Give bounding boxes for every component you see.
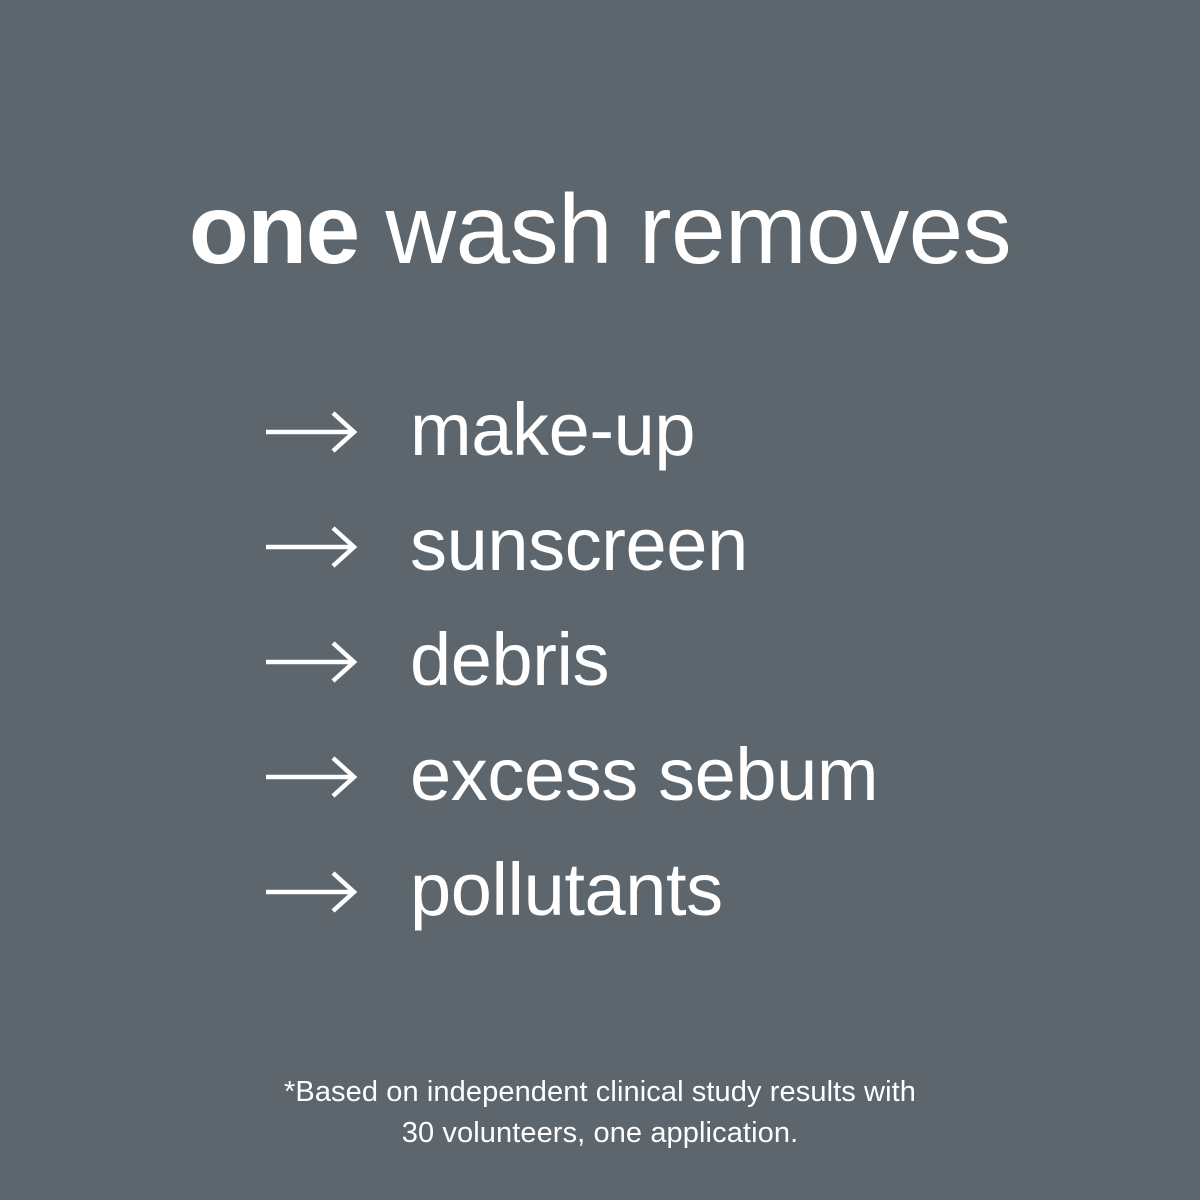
list-item: make-up <box>265 374 1065 489</box>
right-arrow-icon <box>265 525 361 569</box>
list-item: pollutants <box>265 834 1065 949</box>
list-item-label: debris <box>410 623 609 697</box>
list-item-label: make-up <box>410 393 695 467</box>
footnote-line-2: 30 volunteers, one application. <box>0 1113 1200 1154</box>
removes-list: make-up sunscreen debris <box>265 374 1065 949</box>
footnote: *Based on independent clinical study res… <box>0 1072 1200 1154</box>
right-arrow-icon <box>265 755 361 799</box>
list-item-label: pollutants <box>410 853 723 927</box>
right-arrow-icon <box>265 410 361 454</box>
list-item-label: sunscreen <box>410 508 748 582</box>
footnote-line-1: *Based on independent clinical study res… <box>0 1072 1200 1113</box>
product-claim-poster: one wash removes make-up sunscreen <box>0 0 1200 1200</box>
right-arrow-icon <box>265 870 361 914</box>
list-item-label: excess sebum <box>410 738 878 812</box>
right-arrow-icon <box>265 640 361 684</box>
list-item: debris <box>265 604 1065 719</box>
list-item: sunscreen <box>265 489 1065 604</box>
list-item: excess sebum <box>265 719 1065 834</box>
headline-accent-word: one <box>189 174 359 284</box>
page-title: one wash removes <box>0 180 1200 278</box>
headline-rest-text: wash removes <box>359 174 1012 284</box>
